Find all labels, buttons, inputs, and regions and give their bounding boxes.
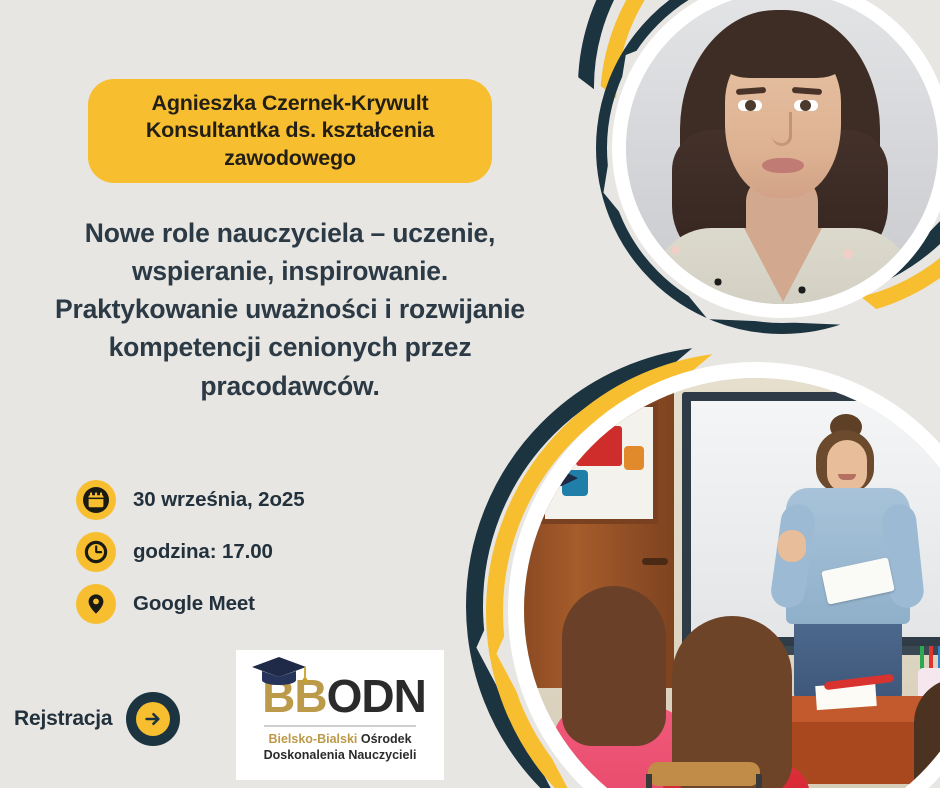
location-pin-icon: [76, 584, 116, 624]
arrow-right-icon: [136, 702, 170, 736]
event-details-list: 30 września, 2o25 godzina: 17.00 Google …: [76, 474, 476, 630]
headline-line-3: Praktykowanie uważności i rozwijanie: [55, 294, 525, 324]
detail-row-location: Google Meet: [76, 578, 476, 630]
calendar-icon: [76, 480, 116, 520]
presenter-name-line1: Agnieszka Czernek-Krywult: [152, 91, 429, 115]
detail-row-time: godzina: 17.00: [76, 526, 476, 578]
logo-subtitle-line2: Doskonalenia Nauczycieli: [264, 748, 417, 762]
presenter-portrait-photo: [626, 0, 938, 304]
clock-icon: [76, 532, 116, 572]
headline-line-1: Nowe role nauczyciela – uczenie,: [85, 218, 495, 248]
logo-divider: [264, 725, 416, 727]
detail-time-text: godzina: 17.00: [133, 540, 273, 564]
classroom-photo: [524, 378, 940, 788]
logo-odn-text: ODN: [327, 673, 426, 719]
presenter-name-badge: Agnieszka Czernek-Krywult Konsultantka d…: [88, 79, 492, 183]
detail-location-text: Google Meet: [133, 592, 255, 616]
classroom-white-ring: [508, 362, 940, 788]
presenter-name-line3: zawodowego: [224, 146, 356, 170]
graduation-cap-icon: [248, 653, 312, 691]
headline-line-4: kompetencji cenionych przez: [109, 332, 472, 362]
registration-button[interactable]: [126, 692, 180, 746]
page-title: Nowe role nauczyciela – uczenie, wspiera…: [14, 214, 566, 405]
detail-row-date: 30 września, 2o25: [76, 474, 476, 526]
portrait-navy-ring: [596, 0, 940, 334]
poster-canvas: Agnieszka Czernek-Krywult Konsultantka d…: [0, 0, 940, 788]
bottom-yellow-arc: [486, 352, 940, 788]
portrait-white-ring: [612, 0, 940, 318]
top-navy-arc: [557, 0, 940, 323]
logo-subtitle-line1-gold: Bielsko-Bialski: [268, 732, 360, 746]
logo-subtitle: Bielsko-Bialski Ośrodek Doskonalenia Nau…: [264, 732, 417, 764]
logo-subtitle-line1-dark: Ośrodek: [361, 732, 412, 746]
headline-line-5: pracodawców.: [200, 371, 379, 401]
registration-cta[interactable]: Rejstracja: [14, 692, 180, 746]
detail-date-text: 30 września, 2o25: [133, 488, 305, 512]
bbodn-logo: BB ODN Bielsko-Bialski Ośrodek Doskonale…: [236, 650, 444, 780]
top-yellow-arc: [579, 0, 940, 339]
bottom-navy-arc: [466, 346, 940, 788]
headline-line-2: wspieranie, inspirowanie.: [132, 256, 448, 286]
logo-wordmark: BB ODN: [262, 673, 426, 719]
presenter-name-line2: Konsultantka ds. kształcenia: [146, 118, 434, 142]
registration-label: Rejstracja: [14, 707, 112, 731]
presenter-name-text: Agnieszka Czernek-Krywult Konsultantka d…: [146, 90, 434, 172]
